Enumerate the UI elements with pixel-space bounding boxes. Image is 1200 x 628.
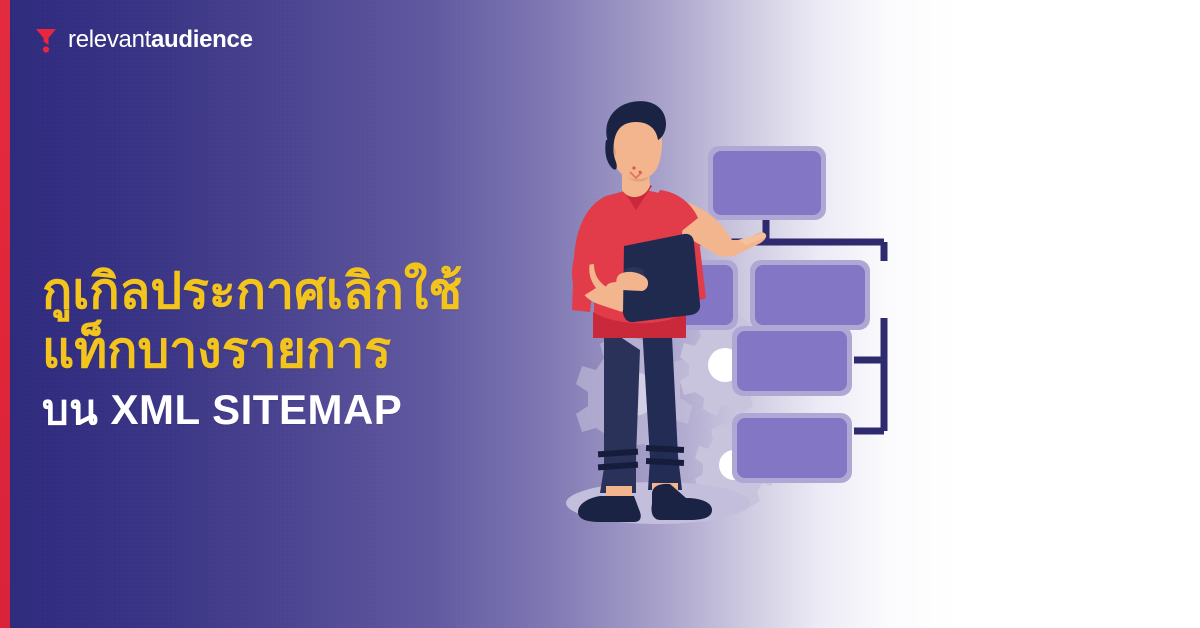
left-red-accent-stripe [0, 0, 10, 628]
node-child-right [750, 260, 870, 330]
headline-block: กูเกิลประกาศเลิกใช้ แท็กบางรายการ บน XML… [42, 262, 602, 437]
funnel-logo-icon [34, 27, 58, 53]
node-leaf-upper [732, 326, 852, 396]
illustration-svg [560, 98, 990, 548]
brand-name-bold: audience [151, 26, 253, 53]
brand-wordmark: relevantaudience [68, 28, 253, 52]
promo-banner: relevantaudience กูเกิลประกาศเลิกใช้ แท็… [0, 0, 1200, 628]
headline-line-1: กูเกิลประกาศเลิกใช้ [42, 262, 602, 321]
hero-illustration [560, 98, 990, 548]
headline-line-3: บน XML SITEMAP [42, 384, 602, 437]
brand-logo[interactable]: relevantaudience [34, 27, 253, 53]
brand-name-light: relevant [68, 26, 151, 53]
face-dot-2 [639, 171, 642, 174]
headline-line-2: แท็กบางรายการ [42, 321, 602, 380]
node-leaf-lower [732, 413, 852, 483]
face-dot-1 [632, 166, 635, 169]
node-root [708, 146, 826, 220]
